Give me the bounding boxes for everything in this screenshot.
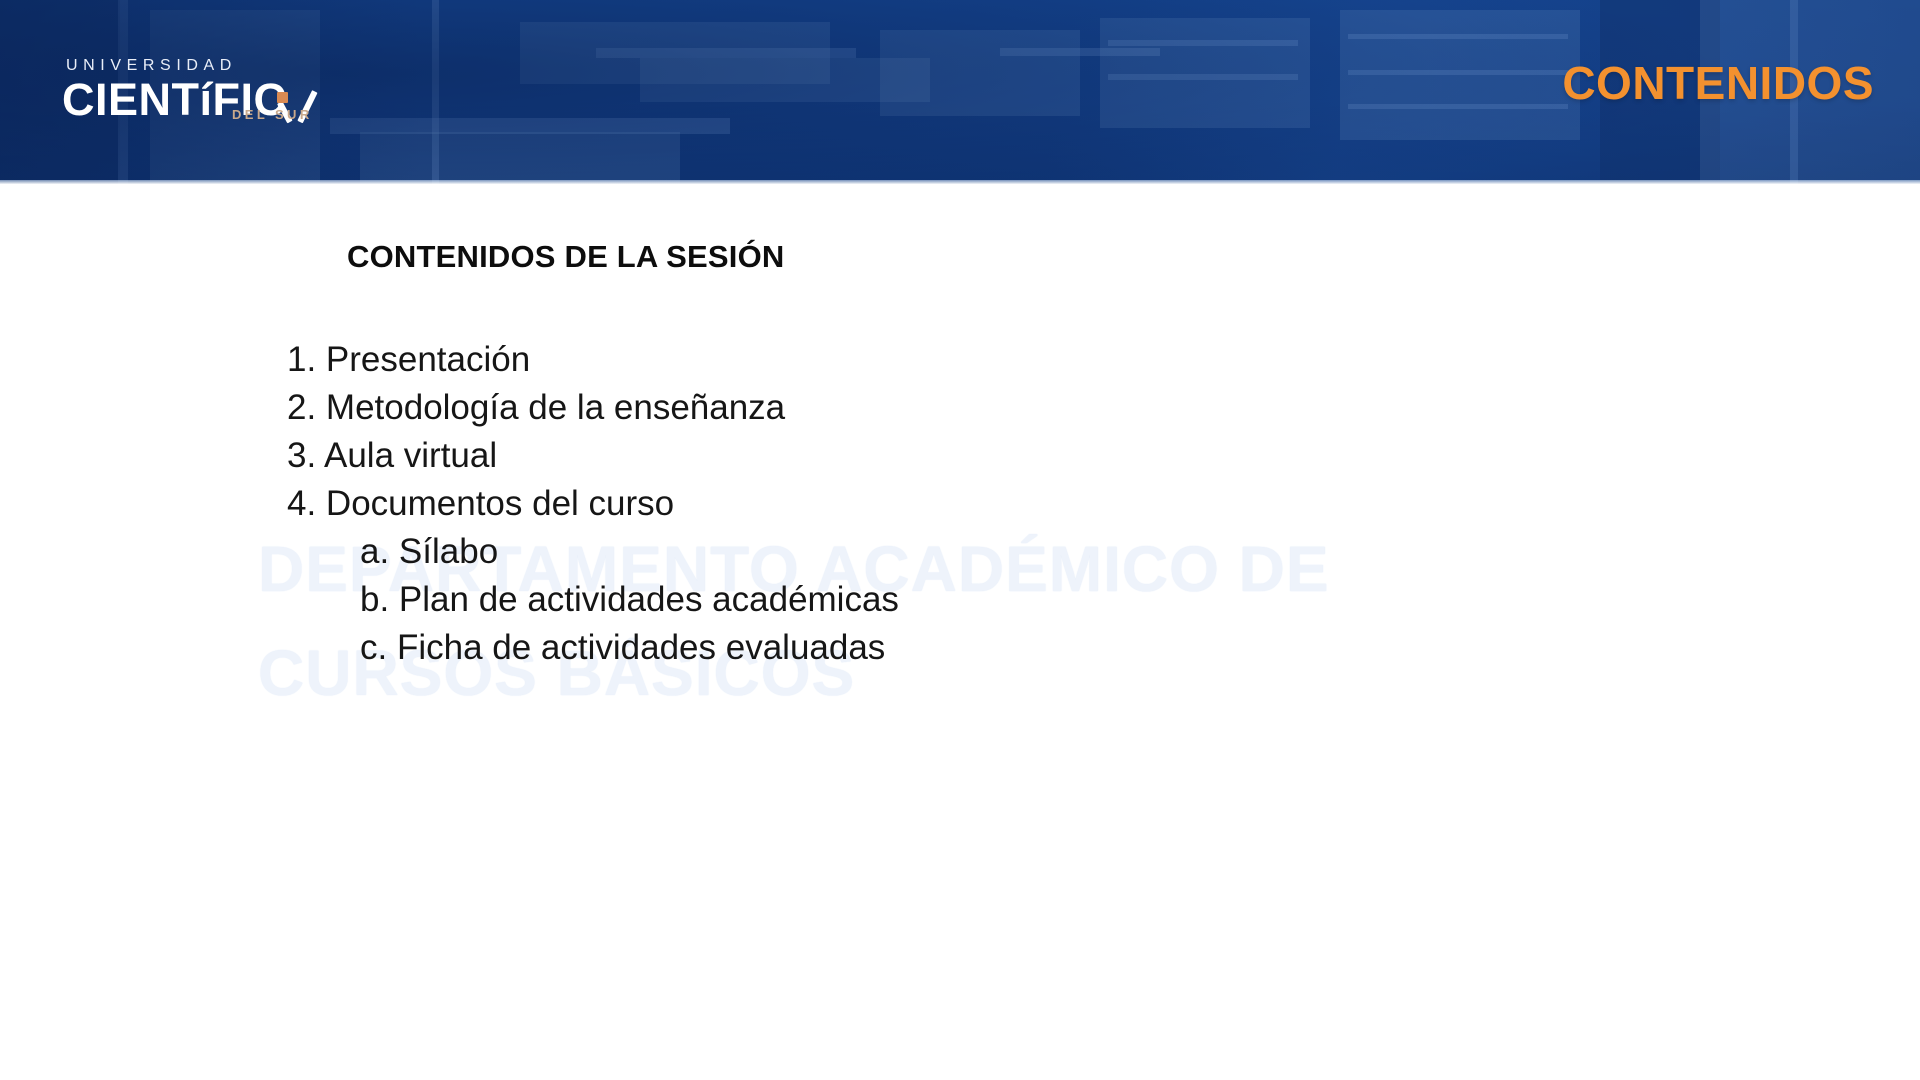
logo-del-sur-text: DEL SUR xyxy=(232,107,313,122)
slide-header-band: UNIVERSIDAD CIENTíFIC DEL SUR CONTENIDOS xyxy=(0,0,1920,184)
slide-body: CONTENIDOS DE LA SESIÓN 1. Presentación … xyxy=(0,184,1920,1080)
outline-item: 1. Presentación xyxy=(287,336,1487,384)
outline-subitem: a. Sílabo xyxy=(287,528,1487,576)
contents-outline-list: 1. Presentación 2. Metodología de la ens… xyxy=(287,336,1487,672)
outline-item: 3. Aula virtual xyxy=(287,432,1487,480)
outline-subitem: b. Plan de actividades académicas xyxy=(287,576,1487,624)
logo-universidad-text: UNIVERSIDAD xyxy=(66,58,311,74)
section-heading: CONTENIDOS DE LA SESIÓN xyxy=(347,239,785,275)
outline-item: 2. Metodología de la enseñanza xyxy=(287,384,1487,432)
slide-title: CONTENIDOS xyxy=(1562,56,1874,110)
outline-item: 4. Documentos del curso xyxy=(287,480,1487,528)
outline-subitem: c. Ficha de actividades evaluadas xyxy=(287,624,1487,672)
logo-accent-dot-icon xyxy=(277,92,288,103)
presentation-slide: UNIVERSIDAD CIENTíFIC DEL SUR CONTENIDOS… xyxy=(0,0,1920,1080)
